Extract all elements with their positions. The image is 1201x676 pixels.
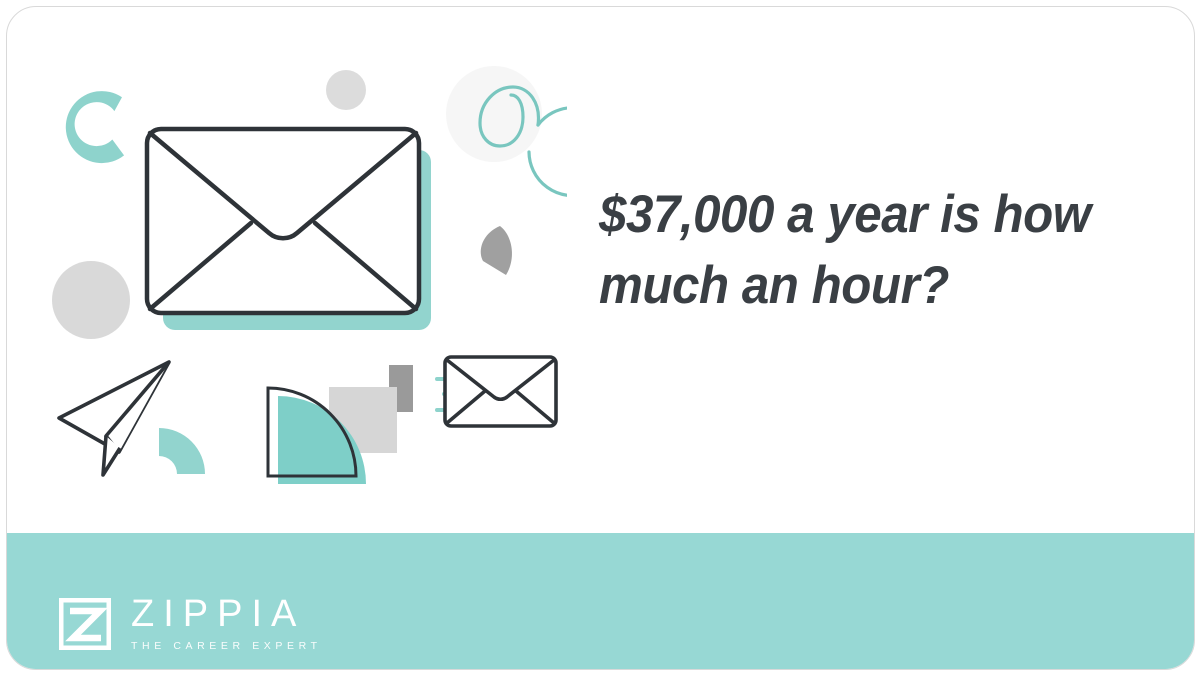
flying-envelope-icon [437, 357, 556, 426]
brand-tagline: THE CAREER EXPERT [131, 639, 322, 653]
zippia-z-mark-icon [59, 598, 111, 650]
c-arc-shape [62, 89, 128, 167]
at-symbol-icon [446, 66, 567, 196]
main-envelope-icon [147, 129, 431, 330]
brand-text: ZIPPIA THE CAREER EXPERT [131, 595, 322, 653]
paper-airplane-icon [59, 362, 169, 475]
email-illustration [7, 7, 567, 529]
brand-name: ZIPPIA [131, 595, 322, 633]
content-card: $37,000 a year is how much an hour? ZIPP… [6, 6, 1195, 670]
large-gray-circle [52, 261, 130, 339]
brand-logo[interactable]: ZIPPIA THE CAREER EXPERT [59, 595, 322, 653]
quarter-circle-arc [159, 428, 205, 474]
footer-band: ZIPPIA THE CAREER EXPERT [7, 533, 1194, 669]
page-title: $37,000 a year is how much an hour? [599, 179, 1138, 321]
small-gray-circle [326, 70, 366, 110]
gray-petal-shape [481, 226, 512, 275]
